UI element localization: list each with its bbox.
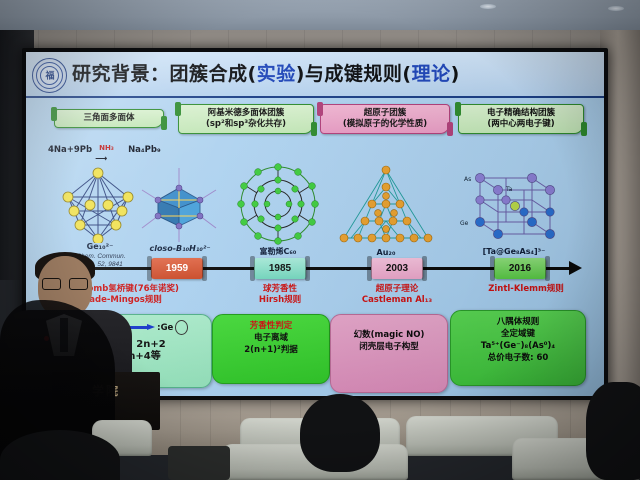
card-line3: Ta⁵⁺(Ge⁻)₈(As⁰)₄ <box>455 340 581 352</box>
title-highlight-theory: 理论 <box>412 63 451 85</box>
equation-reactants: 4Na+9Pb <box>48 145 92 155</box>
card-octet-rule: 八隅体规则 全定域键 Ta⁵⁺(Ge⁻)₈(As⁰)₄ 总价电子数: 60 <box>450 310 586 386</box>
timeline-milestone-2016[interactable]: 2016 <box>494 258 546 279</box>
banner-line1: 超原子团簇 <box>327 108 443 119</box>
card-line2: 2(n+1)²判据 <box>217 344 325 356</box>
audience-head <box>300 394 380 472</box>
molecule-caption-closo: closo-B₁₀H₁₀²⁻ <box>136 244 224 253</box>
svg-text:Ge: Ge <box>460 220 469 227</box>
card-header: 芳香性判定 <box>217 320 325 332</box>
title-mid: )与成键规则( <box>296 63 412 85</box>
banner-line1: 电子精确结构团簇 <box>465 108 577 119</box>
card-line2: 闭壳层电子构型 <box>335 341 443 353</box>
note-line1: 球芳香性 <box>222 284 338 295</box>
banner-superatom-cluster: 超原子团簇 (模拟原子的化学性质) <box>320 104 450 134</box>
timeline-milestone-1985[interactable]: 1985 <box>254 258 306 279</box>
molecule-au20-icon <box>332 164 440 246</box>
title-prefix: 研究背景：团簇合成( <box>72 63 257 85</box>
molecule-caption-au20: Au₂₀ <box>346 248 426 257</box>
molecule-caption-ge10: Ge₁₀²⁻ <box>60 242 140 251</box>
molecule-tageas-cage-icon: As Ta Ge <box>458 164 570 248</box>
university-seal-logo: 福 <box>32 58 67 93</box>
card-aromaticity-criteria: 芳香性判定 电子离域 2(n+1)²判据 <box>212 314 330 384</box>
svg-text:As: As <box>464 176 471 183</box>
timeline-note-zintl-klemm: Zintl-Klemm规则 <box>456 284 596 295</box>
banner-line2: (sp²和sp³杂化共存) <box>185 119 307 130</box>
svg-text:Ta: Ta <box>505 186 513 193</box>
card-magic-number: 幻数(magic NO) 闭壳层电子构型 <box>330 314 448 393</box>
synthesis-equation: 4Na+9Pb NH₃ ⟶ Na₄Pb₉ <box>48 145 161 155</box>
note-line2: Castleman Al₁₃ <box>336 295 458 306</box>
card-line1: 电子离域 <box>217 332 325 344</box>
milestone-year: 1959 <box>166 263 188 274</box>
molecule-caption-tageas: [Ta@Ge₈As₄]³⁻ <box>458 247 570 256</box>
audience-seat-shadow <box>168 446 230 480</box>
title-highlight-experiment: 实验 <box>257 63 296 85</box>
banner-line2: (两中心两电子键) <box>465 119 577 130</box>
banner-line1: 阿基米德多面体团簇 <box>185 108 307 119</box>
card-line4: 总价电子数: 60 <box>455 352 581 364</box>
banner-electron-precise-cluster: 电子精确结构团簇 (两中心两电子键) <box>458 104 584 134</box>
ceiling <box>0 0 640 30</box>
slide-title-bar: 福 研究背景：团簇合成(实验)与成键规则(理论) <box>26 52 604 98</box>
conference-room-photo: 福 研究背景：团簇合成(实验)与成键规则(理论) 三角面多面体 阿基米德多面体团… <box>0 0 640 480</box>
note-line1: 超原子理论 <box>336 284 458 295</box>
molecule-closo-b10h10-icon <box>138 164 220 244</box>
milestone-year: 2003 <box>386 263 408 274</box>
audience-head <box>586 382 640 480</box>
note-line1: Zintl-Klemm规则 <box>456 284 596 295</box>
timeline-note-hirsh: 球芳香性 Hirsh规则 <box>222 284 338 306</box>
molecule-c60-fullerene-icon <box>232 162 324 246</box>
equation-reagent: NH₃ <box>99 144 114 152</box>
title-suffix: ) <box>451 63 460 85</box>
logo-mark: 福 <box>45 71 53 80</box>
card-line2: :Ge <box>157 322 173 334</box>
note-line2: Hirsh规则 <box>222 295 338 306</box>
timeline-arrow-icon <box>569 261 582 275</box>
banner-line1: 三角面多面体 <box>61 113 157 124</box>
banner-archimedean-cluster: 阿基米德多面体团簇 (sp²和sp³杂化共存) <box>178 104 314 134</box>
milestone-year: 1985 <box>269 263 291 274</box>
banner-triangular-polyhedron: 三角面多面体 <box>54 109 164 128</box>
molecule-ge10-icon <box>50 167 146 243</box>
timeline-milestone-1959[interactable]: 1959 <box>151 258 203 279</box>
milestone-year: 2016 <box>509 263 531 274</box>
slide-title: 研究背景：团簇合成(实验)与成键规则(理论) <box>72 59 592 89</box>
card-line1: 八隅体规则 <box>455 316 581 328</box>
ceiling-light-icon <box>608 6 624 11</box>
card-line2: 全定域键 <box>455 328 581 340</box>
timeline-milestone-2003[interactable]: 2003 <box>371 258 423 279</box>
banner-line2: (模拟原子的化学性质) <box>327 119 443 130</box>
card-line1: 幻数(magic NO) <box>335 329 443 341</box>
ceiling-light-icon <box>480 4 496 9</box>
timeline-note-castleman: 超原子理论 Castleman Al₁₃ <box>336 284 458 306</box>
equation-product: Na₄Pb₉ <box>128 145 161 155</box>
glasses-icon <box>42 278 88 288</box>
